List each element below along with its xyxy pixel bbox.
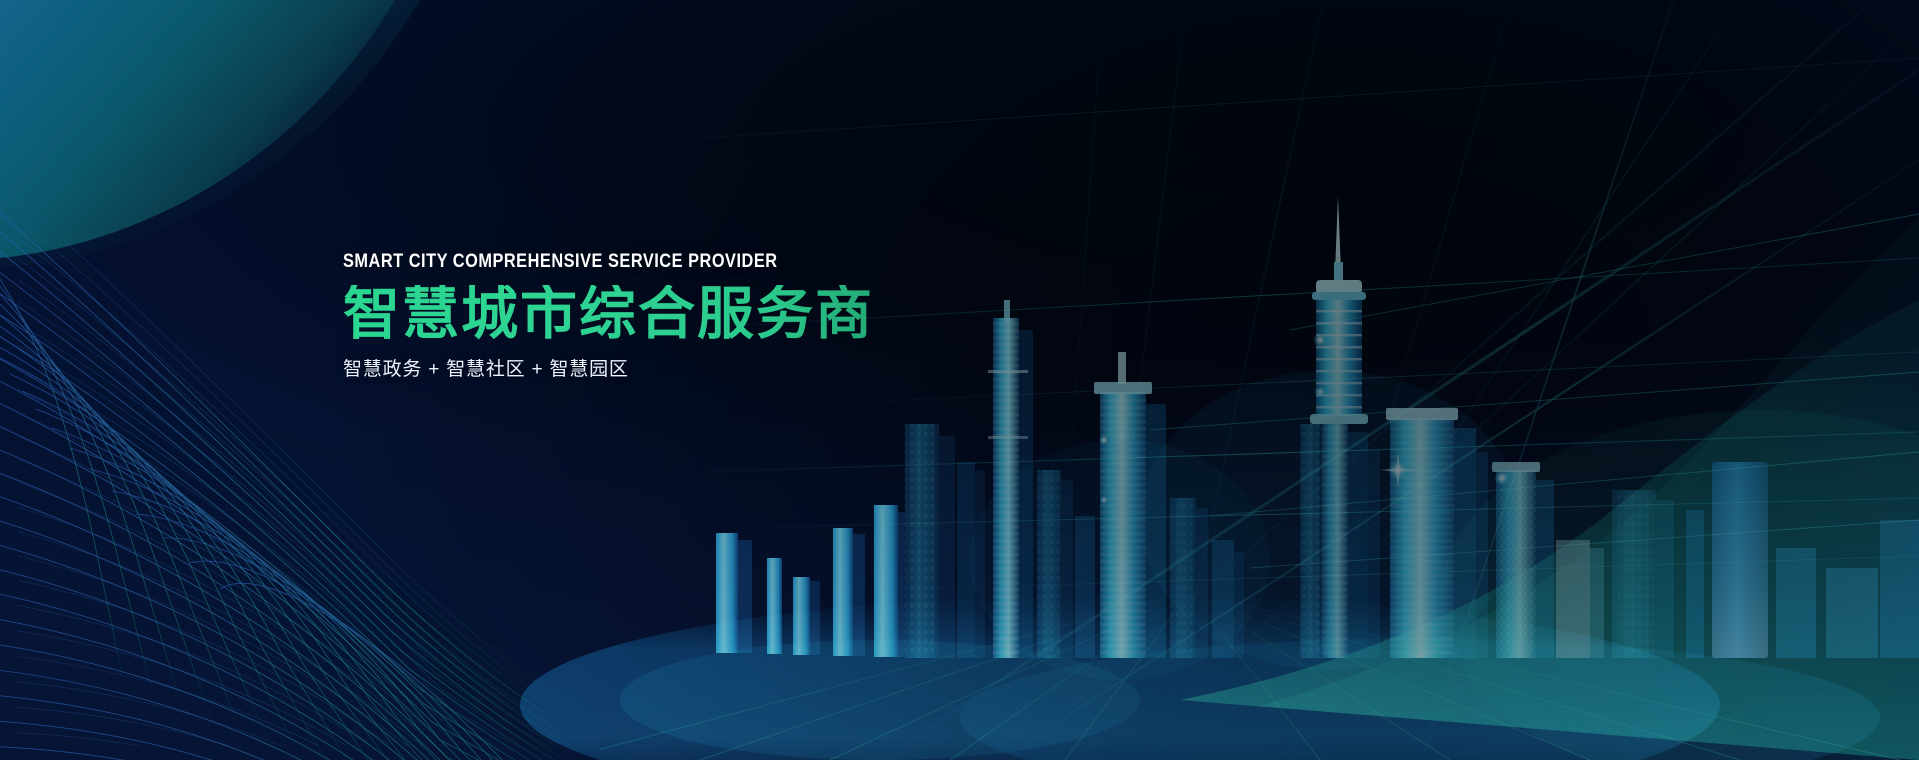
city-skyline <box>0 0 1919 760</box>
bottom-right-green-wave <box>0 0 1919 760</box>
left-slab-group <box>716 505 911 657</box>
sky-vignette <box>0 0 1919 760</box>
subtitle-text: 智慧政务 + 智慧社区 + 智慧园区 <box>343 360 1103 379</box>
sky-background <box>0 0 1919 760</box>
left-line-mesh <box>0 0 1919 760</box>
mid-dark-towers <box>905 424 985 658</box>
mid-short-blocks <box>1170 498 1244 658</box>
diagonal-light-streaks <box>0 0 1919 760</box>
far-right-slabs <box>1686 462 1919 658</box>
small-towers-left <box>1037 470 1095 658</box>
headline-copy-block: SMART CITY COMPREHENSIVE SERVICE PROVIDE… <box>343 252 1103 379</box>
right-mid-towers <box>1492 462 1674 658</box>
eyebrow-text: SMART CITY COMPREHENSIVE SERVICE PROVIDE… <box>343 252 997 271</box>
page-title: 智慧城市综合服务商 <box>343 285 1103 344</box>
spire-tower <box>1300 196 1380 658</box>
wide-bright-tower <box>1380 408 1488 658</box>
hero-banner: SMART CITY COMPREHENSIVE SERVICE PROVIDE… <box>0 0 1919 760</box>
perspective-grid-floor <box>0 0 1919 760</box>
top-left-teal-wave <box>0 0 1919 760</box>
bright-ring-tower <box>1094 352 1166 658</box>
